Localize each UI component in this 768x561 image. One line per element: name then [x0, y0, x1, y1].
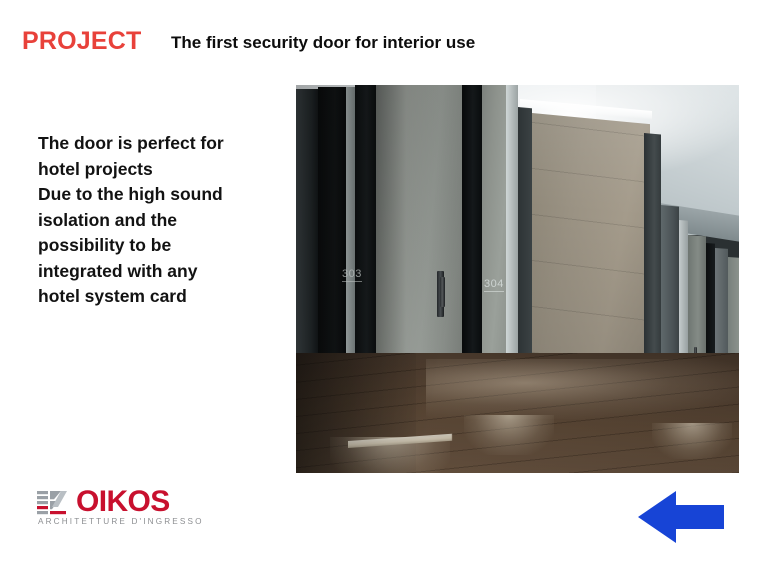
oikos-stepped-mark-icon — [36, 489, 72, 518]
body-line: hotel projects — [38, 157, 283, 183]
page-subtitle: The first security door for interior use — [171, 30, 475, 56]
body-line: isolation and the — [38, 208, 283, 234]
slide-header: PROJECT The first security door for inte… — [0, 26, 768, 66]
oikos-tagline: ARCHITETTURE D'INGRESSO — [38, 517, 204, 527]
door-number-303: 303 — [342, 268, 362, 282]
body-line: possibility to be — [38, 233, 283, 259]
oikos-logo: OIKOS ARCHITETTURE D'INGRESSO — [36, 487, 222, 532]
photo-floor-light-pool — [464, 415, 554, 455]
body-text-block: The door is perfect for hotel projects D… — [38, 131, 283, 310]
door-number-304: 304 — [484, 278, 504, 292]
body-line: hotel system card — [38, 284, 283, 310]
photo-door-handle — [440, 277, 445, 307]
body-line: Due to the high sound — [38, 182, 283, 208]
photo-scene: 303 304 — [296, 85, 739, 473]
corridor-photo: 303 304 — [296, 85, 739, 473]
oikos-wordmark: OIKOS — [76, 485, 170, 519]
photo-floor-sheen — [426, 359, 739, 419]
photo-floor-light-pool — [652, 423, 732, 459]
page-title: PROJECT — [22, 26, 141, 56]
slide-canvas: PROJECT The first security door for inte… — [0, 0, 768, 561]
body-line: The door is perfect for — [38, 131, 283, 157]
body-line: integrated with any — [38, 259, 283, 285]
arrow-left-icon[interactable] — [638, 491, 730, 543]
